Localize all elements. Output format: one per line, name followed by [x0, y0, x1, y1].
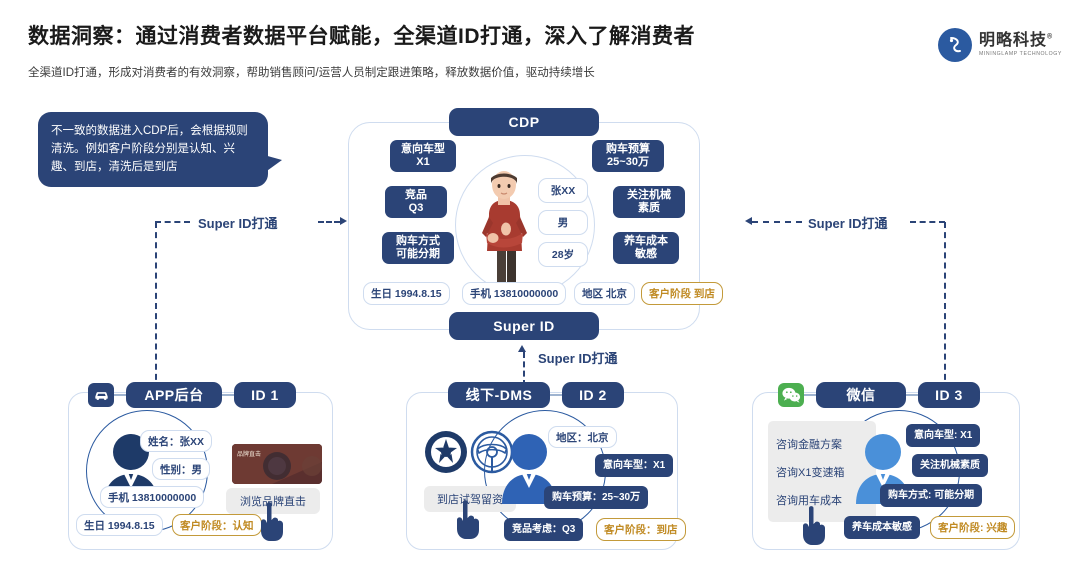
connector-wechat-horizontal — [910, 221, 945, 223]
dms-chip-region: 地区：北京 — [548, 426, 617, 448]
connector-wechat-vertical — [944, 222, 946, 390]
header-connector-3 — [550, 394, 562, 396]
source-id-app: ID 1 — [234, 382, 296, 408]
cdp-tag-right-0-line2: 25~30万 — [607, 156, 649, 169]
cdp-tag-right-2-line1: 养车成本 — [624, 235, 668, 248]
cdp-tag-left-1-line2: Q3 — [409, 202, 424, 215]
cursor-hand-icon-dms — [452, 498, 484, 540]
connector-right-to-cdp — [752, 221, 802, 223]
app-chip-name: 姓名：张XX — [140, 430, 212, 452]
cdp-tag-left-0-line1: 意向车型 — [401, 143, 445, 156]
connector-app-vertical — [155, 222, 157, 390]
cdp-chip-birthday: 生日 1994.8.15 — [363, 282, 450, 305]
cdp-chip-stage: 客户阶段 到店 — [641, 282, 723, 305]
wechat-chip-mechanics: 关注机械素质 — [912, 454, 988, 477]
cdp-tag-right-1: 关注机械 素质 — [613, 186, 685, 218]
cdp-tag-left-1-line1: 竞品 — [405, 189, 427, 202]
header-connector — [114, 394, 126, 396]
app-activity-thumbnail: 品牌直击 — [232, 444, 322, 484]
cdp-tag-left-2-line2: 可能分期 — [396, 248, 440, 261]
dms-chip-competitor: 竞品考虑：Q3 — [504, 518, 583, 541]
connector-label-center: Super ID打通 — [538, 348, 617, 367]
cdp-header-pill: CDP — [449, 108, 599, 136]
connector-dms-vertical — [523, 352, 525, 386]
cdp-tag-left-2: 购车方式 可能分期 — [382, 232, 454, 264]
header-connector-4 — [804, 394, 816, 396]
wechat-activity-0: 咨询金融方案 — [776, 436, 842, 452]
app-chip-gender: 性别：男 — [152, 458, 210, 480]
cdp-tag-right-0-line1: 购车预算 — [606, 143, 650, 156]
connector-left-arrow-icon — [340, 217, 347, 225]
connector-right-arrow-icon — [745, 217, 752, 225]
dms-chip-model: 意向车型：X1 — [595, 454, 673, 477]
source-id-dms: ID 2 — [562, 382, 624, 408]
customer-avatar-illustration — [473, 163, 535, 288]
cdp-chip-phone: 手机 13810000000 — [462, 282, 566, 305]
wheel-icon — [424, 430, 468, 474]
cdp-tag-right-0: 购车预算 25~30万 — [592, 140, 664, 172]
header-connector-5 — [906, 394, 918, 396]
source-name-wechat: 微信 — [816, 382, 906, 408]
page-subtitle: 全渠道ID打通，形成对消费者的有效洞察，帮助销售顾问/运营人员制定跟进策略，释放… — [28, 64, 595, 80]
app-chip-stage: 客户阶段：认知 — [172, 514, 262, 536]
callout-tail — [264, 155, 282, 173]
connector-label-right: Super ID打通 — [808, 213, 887, 232]
cursor-hand-icon — [256, 500, 288, 542]
cursor-hand-icon-wechat — [798, 504, 830, 546]
cdp-tag-left-2-line1: 购车方式 — [396, 235, 440, 248]
cdp-identity-age: 28岁 — [538, 242, 588, 267]
source-card-app-header: APP后台 ID 1 — [88, 382, 296, 408]
source-id-wechat: ID 3 — [918, 382, 980, 408]
connector-center-arrow-icon — [518, 345, 526, 352]
cdp-tag-right-1-line2: 素质 — [638, 202, 660, 215]
cdp-tag-right-2-line2: 敏感 — [635, 248, 657, 261]
connector-left-to-cdp — [318, 221, 340, 223]
cdp-identity-name: 张XX — [538, 178, 588, 203]
brand-logo: 明略科技® MININGLAMP TECHNOLOGY — [938, 28, 1062, 62]
cdp-tag-left-0-line2: X1 — [416, 156, 429, 169]
wechat-chip-model: 意向车型: X1 — [906, 424, 980, 447]
svg-text:品牌直击: 品牌直击 — [237, 450, 261, 458]
cdp-tag-right-2: 养车成本 敏感 — [613, 232, 679, 264]
logo-trademark: ® — [1047, 34, 1053, 41]
callout-text: 不一致的数据进入CDP后，会根据规则清洗。例如客户阶段分别是认知、兴趣、到店，清… — [51, 125, 248, 173]
source-name-dms: 线下-DMS — [448, 382, 550, 408]
mingluo-logo-icon — [938, 28, 972, 62]
wechat-chip-cost: 养车成本敏感 — [844, 516, 920, 539]
wechat-icon — [778, 383, 804, 407]
cdp-chip-region: 地区 北京 — [574, 282, 635, 305]
cdp-tag-right-1-line1: 关注机械 — [627, 189, 671, 202]
connector-label-left: Super ID打通 — [198, 213, 277, 232]
wechat-activity-1: 咨询X1变速箱 — [776, 464, 844, 480]
wechat-chip-payment: 购车方式: 可能分期 — [880, 484, 982, 507]
dms-chip-stage: 客户阶段：到店 — [596, 518, 686, 541]
header-connector-2 — [222, 394, 234, 396]
connector-app-horizontal — [155, 221, 190, 223]
logo-text-cn: 明略科技 — [979, 32, 1047, 49]
cdp-identity-gender: 男 — [538, 210, 588, 235]
logo-text-en: MININGLAMP TECHNOLOGY — [979, 52, 1062, 57]
car-icon — [88, 383, 114, 407]
superid-header-pill: Super ID — [449, 312, 599, 340]
page-title: 数据洞察：通过消费者数据平台赋能，全渠道ID打通，深入了解消费者 — [28, 20, 695, 50]
source-card-wechat-header: 微信 ID 3 — [778, 382, 980, 408]
source-name-app: APP后台 — [126, 382, 222, 408]
source-card-dms-header: 线下-DMS ID 2 — [448, 382, 624, 408]
wechat-chip-stage: 客户阶段: 兴趣 — [930, 516, 1015, 539]
cdp-tag-left-0: 意向车型 X1 — [390, 140, 456, 172]
app-chip-phone: 手机 13810000000 — [100, 486, 204, 508]
cdp-tag-left-1: 竞品 Q3 — [385, 186, 447, 218]
callout-bubble: 不一致的数据进入CDP后，会根据规则清洗。例如客户阶段分别是认知、兴趣、到店，清… — [38, 112, 268, 187]
dms-chip-budget: 购车预算：25~30万 — [544, 486, 648, 509]
app-chip-birthday: 生日 1994.8.15 — [76, 514, 163, 536]
